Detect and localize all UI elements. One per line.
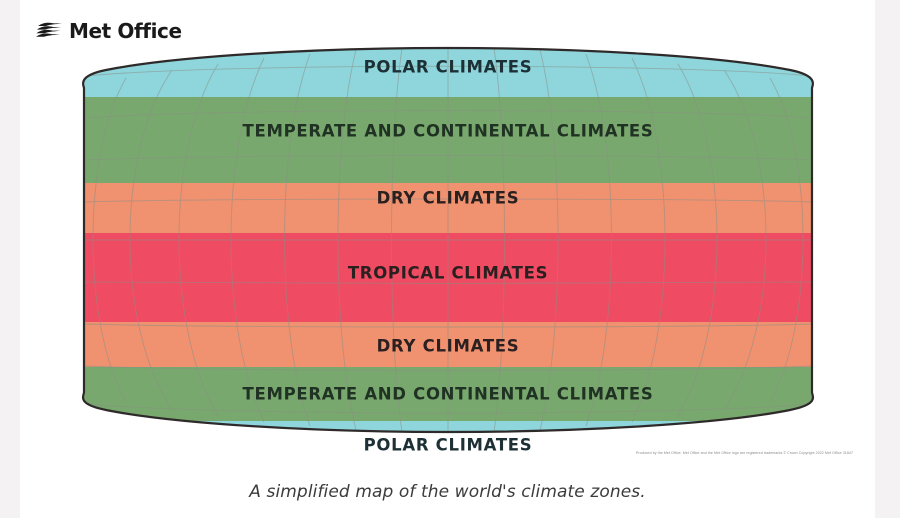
zone-label-dry-north: DRY CLIMATES: [377, 189, 520, 208]
page-root: Met Office: [0, 0, 900, 518]
zone-label-temperate-south: TEMPERATE AND CONTINENTAL CLIMATES: [243, 385, 654, 404]
figure-caption: A simplified map of the world's climate …: [20, 482, 875, 502]
zone-label-temperate-north: TEMPERATE AND CONTINENTAL CLIMATES: [243, 122, 654, 141]
climate-zone-figure: POLAR CLIMATES TEMPERATE AND CONTINENTAL…: [20, 36, 875, 468]
map-attribution: Produced by the Met Office. Met Office a…: [636, 451, 853, 455]
zone-label-polar-south: POLAR CLIMATES: [364, 436, 533, 455]
zone-label-dry-south: DRY CLIMATES: [377, 337, 520, 356]
zone-label-tropical: TROPICAL CLIMATES: [348, 264, 548, 283]
content-card: Met Office: [20, 0, 875, 518]
zone-label-polar-north: POLAR CLIMATES: [364, 58, 533, 77]
world-climate-map: POLAR CLIMATES TEMPERATE AND CONTINENTAL…: [20, 36, 875, 468]
